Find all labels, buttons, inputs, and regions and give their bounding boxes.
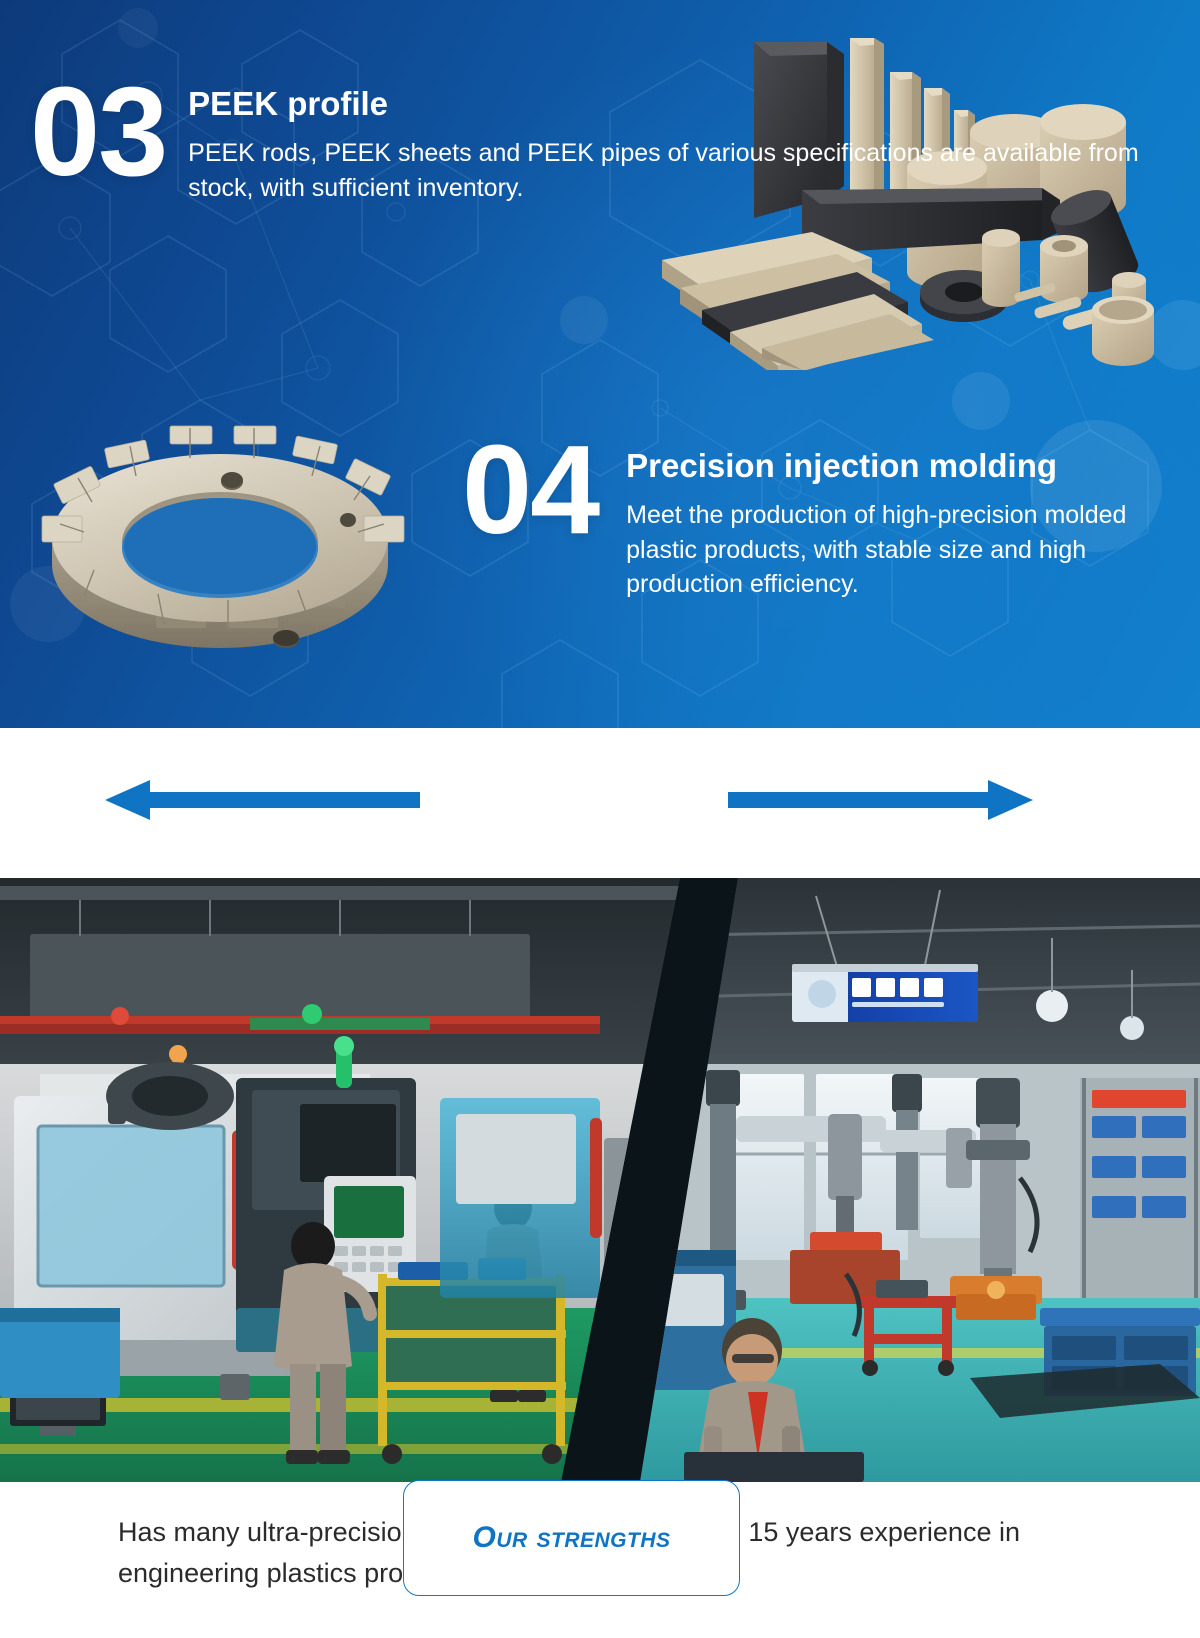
- cnc-workshop-photo: [0, 878, 680, 1482]
- feature-block-03: 03 PEEK profile PEEK rods, PEEK sheets a…: [30, 74, 1200, 205]
- feature-title: Precision injection molding: [626, 448, 1200, 484]
- peek-gear-ring-part-image: [32, 388, 422, 670]
- feature-number: 03: [30, 74, 166, 190]
- double-arrow-icon: [0, 728, 1200, 878]
- blue-feature-panel: 03 PEEK profile PEEK rods, PEEK sheets a…: [0, 0, 1200, 728]
- our-strengths-label: Our strengths: [472, 1521, 670, 1555]
- product-feature-page: 03 PEEK profile PEEK rods, PEEK sheets a…: [0, 0, 1200, 1638]
- our-strengths-label-box: Our strengths: [403, 1480, 740, 1596]
- feature-title: PEEK profile: [188, 86, 1200, 122]
- feature-body: Meet the production of high-precision mo…: [626, 498, 1200, 602]
- feature-block-04: 04 Precision injection molding Meet the …: [462, 432, 1200, 602]
- our-strengths-banner: Our strengths: [0, 728, 1200, 878]
- workshop-photo-strip: [0, 878, 1200, 1482]
- feature-number: 04: [462, 432, 598, 548]
- feature-body: PEEK rods, PEEK sheets and PEEK pipes of…: [188, 136, 1200, 205]
- mold-workshop-photo: [640, 878, 1200, 1482]
